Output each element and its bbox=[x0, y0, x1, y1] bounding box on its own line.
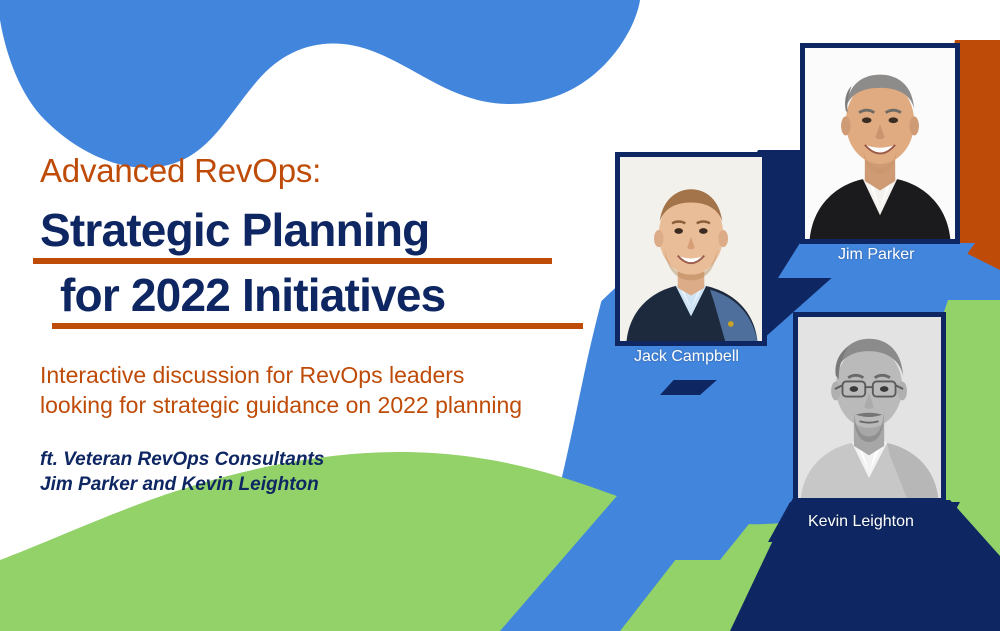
speaker-card-kevin-leighton bbox=[793, 312, 946, 503]
presenters-note: ft. Veteran RevOps Consultants Jim Parke… bbox=[40, 447, 324, 497]
headline-line-2: for 2022 Initiatives bbox=[60, 268, 445, 322]
speaker-caption-kevin-leighton: Kevin Leighton bbox=[808, 513, 914, 531]
headline-line-1: Strategic Planning bbox=[40, 203, 429, 257]
headshot-photo-jim-parker bbox=[805, 48, 955, 239]
portrait-frame bbox=[800, 43, 960, 244]
headline-underline-2 bbox=[52, 323, 583, 329]
speaker-caption-jack-campbell: Jack Campbell bbox=[634, 348, 739, 366]
headshot-photo-jack-campbell bbox=[620, 157, 762, 341]
eyebrow-text: Advanced RevOps: bbox=[40, 152, 321, 190]
speaker-card-jack-campbell bbox=[615, 152, 767, 346]
speaker-caption-jim-parker: Jim Parker bbox=[838, 246, 914, 264]
headshot-photo-kevin-leighton bbox=[798, 317, 941, 498]
portrait-frame bbox=[793, 312, 946, 503]
headline-underline-1 bbox=[33, 258, 552, 264]
headline-text-column: Advanced RevOps: Strategic Planning for … bbox=[0, 0, 620, 631]
portrait-frame bbox=[615, 152, 767, 346]
speaker-card-jim-parker bbox=[800, 43, 960, 244]
subheadline-text: Interactive discussion for RevOps leader… bbox=[40, 360, 522, 420]
webinar-banner: Advanced RevOps: Strategic Planning for … bbox=[0, 0, 1000, 631]
